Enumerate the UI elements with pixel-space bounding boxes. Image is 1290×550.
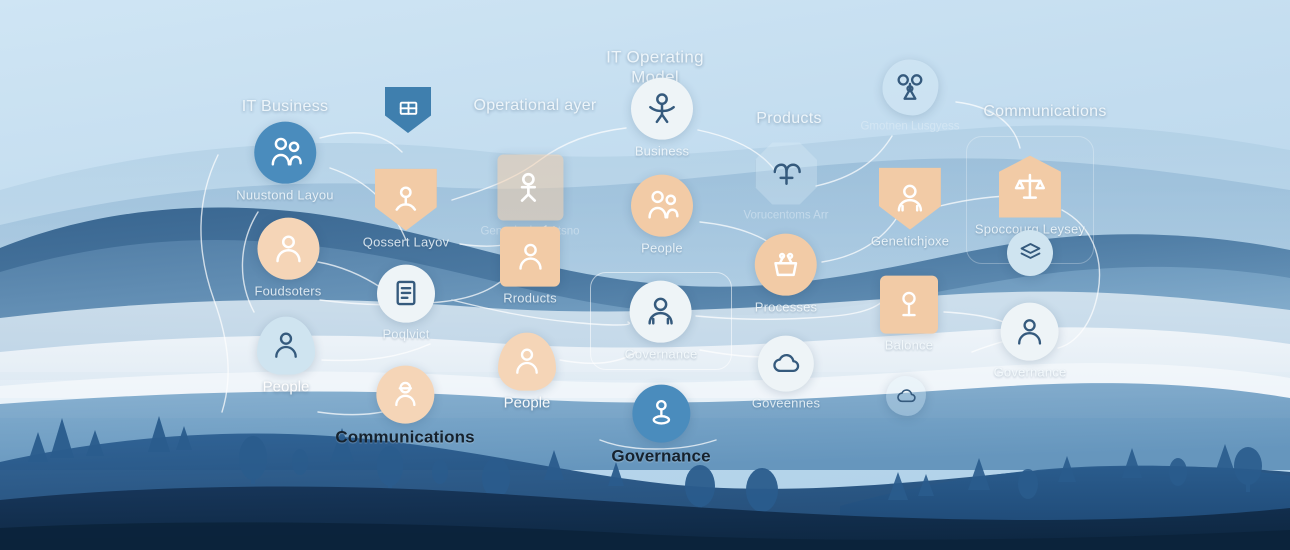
column-title-right-label: Communications	[983, 104, 1106, 121]
node-shape-n12[interactable]	[631, 175, 693, 237]
person-badge-icon	[642, 293, 680, 331]
node-n23[interactable]	[1007, 230, 1053, 276]
node-n04[interactable]: Foudsoters	[254, 218, 321, 299]
person-icon	[512, 238, 549, 275]
person-sit-icon	[509, 167, 550, 208]
people-group-icon	[266, 134, 304, 172]
node-shape-n11[interactable]	[631, 78, 693, 140]
flower-person-icon	[387, 181, 425, 219]
column-title-mid-right-label: Products	[756, 111, 822, 128]
node-n17[interactable]: Goveennes	[752, 336, 820, 411]
node-shape-n15[interactable]	[755, 142, 817, 204]
node-shape-n09[interactable]	[500, 227, 560, 287]
node-label-n19: Genetichjoxe	[871, 235, 949, 249]
diagram-canvas: IT Operating Model IT Business Operation…	[0, 0, 1290, 550]
node-label-n12: People	[641, 242, 683, 256]
node-shape-n07[interactable]	[376, 366, 434, 424]
node-n24[interactable]: Governance	[994, 303, 1067, 380]
diagram-title-line1: IT Operating	[606, 47, 704, 67]
person-head-icon	[269, 230, 307, 268]
node-n01[interactable]: Nuustond Layou	[236, 122, 333, 203]
node-n14[interactable]: Governance	[611, 385, 710, 466]
person-speak-icon	[387, 377, 423, 413]
node-n03[interactable]: Qossert Layov	[363, 169, 449, 250]
node-n13[interactable]: Governance	[625, 281, 698, 362]
node-shape-n21[interactable]	[886, 376, 926, 416]
node-n12[interactable]: People	[631, 175, 693, 256]
node-shape-n16[interactable]	[755, 234, 817, 296]
node-shape-n04[interactable]	[257, 218, 319, 280]
basket-icon	[767, 246, 805, 284]
node-label-n11: Business	[635, 145, 689, 159]
node-label-n07: Communications	[335, 429, 474, 447]
node-n16[interactable]: Processes	[755, 234, 818, 315]
node-shape-n14[interactable]	[632, 385, 690, 443]
node-n11[interactable]: Business	[631, 78, 693, 159]
node-label-n05: Poqlvict	[382, 328, 429, 342]
node-shape-n13[interactable]	[630, 281, 692, 343]
person-head-icon	[1012, 314, 1048, 350]
node-shape-n06[interactable]	[257, 317, 315, 375]
scales-icon	[1011, 168, 1049, 206]
cloud-icon	[768, 346, 803, 381]
node-label-n17: Goveennes	[752, 397, 820, 411]
people-group-icon	[643, 187, 681, 225]
node-label-n10: People	[504, 396, 551, 412]
column-title-mid-left: Operational ayer	[473, 93, 596, 115]
person-icon	[268, 328, 304, 364]
node-label-n01: Nuustond Layou	[236, 189, 333, 203]
node-shape-n03[interactable]	[375, 169, 437, 231]
layers-icon	[1016, 239, 1045, 268]
node-n07[interactable]: Communications	[335, 366, 474, 447]
node-label-n09: Rroducts	[503, 292, 557, 306]
node-n18[interactable]: Gmotnen Lusgyess	[860, 59, 959, 132]
handshake-icon	[767, 154, 805, 192]
person-pin-icon	[643, 396, 679, 432]
tree-node-icon	[893, 70, 928, 105]
node-shape-n08[interactable]	[497, 154, 563, 220]
node-label-n18: Gmotnen Lusgyess	[860, 120, 959, 132]
node-label-n24: Governance	[994, 366, 1067, 380]
node-shape-n24[interactable]	[1001, 303, 1059, 361]
node-n22[interactable]: Spoccourg Leysey	[975, 156, 1085, 237]
node-shape-n10[interactable]	[498, 333, 556, 391]
node-n10[interactable]: People	[498, 333, 556, 412]
node-n05[interactable]: Poqlvict	[377, 265, 435, 342]
shield-window-icon	[394, 96, 423, 125]
node-shape-n01[interactable]	[254, 122, 316, 184]
node-shape-n17[interactable]	[758, 336, 814, 392]
balance-icon	[891, 287, 927, 323]
node-shape-n02[interactable]	[385, 87, 431, 133]
node-label-n20: Balonce	[885, 339, 933, 353]
node-n15[interactable]: Vorucentoms Arr	[743, 142, 828, 221]
node-shape-n19[interactable]	[879, 168, 941, 230]
node-label-n03: Qossert Layov	[363, 236, 449, 250]
column-title-mid-left-label: Operational ayer	[473, 98, 596, 115]
column-title-mid-right: Products	[756, 106, 822, 128]
column-title-right: Communications	[983, 99, 1106, 121]
cloud-icon	[894, 384, 919, 409]
node-label-n13: Governance	[625, 348, 698, 362]
node-n06[interactable]: People	[257, 317, 315, 396]
node-label-n04: Foudsoters	[254, 285, 321, 299]
document-icon	[388, 276, 424, 312]
node-shape-n20[interactable]	[880, 276, 938, 334]
node-n19[interactable]: Genetichjoxe	[871, 168, 949, 249]
node-n20[interactable]: Balonce	[880, 276, 938, 353]
person-badge-icon	[891, 180, 929, 218]
node-shape-n05[interactable]	[377, 265, 435, 323]
column-title-left: IT Business	[242, 94, 329, 116]
column-title-left-label: IT Business	[242, 99, 329, 116]
node-n09[interactable]: Rroducts	[500, 227, 560, 306]
node-n08[interactable]: Genockmkox Atsno	[480, 154, 579, 237]
node-label-n16: Processes	[755, 301, 818, 315]
node-shape-n23[interactable]	[1007, 230, 1053, 276]
node-shape-n18[interactable]	[882, 59, 938, 115]
node-label-n15: Vorucentoms Arr	[743, 209, 828, 221]
person-icon	[509, 344, 545, 380]
node-n02[interactable]	[385, 87, 431, 133]
node-shape-n22[interactable]	[999, 156, 1061, 218]
node-label-n14: Governance	[611, 448, 710, 466]
node-label-n06: People	[263, 380, 310, 396]
node-n21[interactable]	[886, 376, 926, 416]
person-arms-icon	[643, 90, 681, 128]
